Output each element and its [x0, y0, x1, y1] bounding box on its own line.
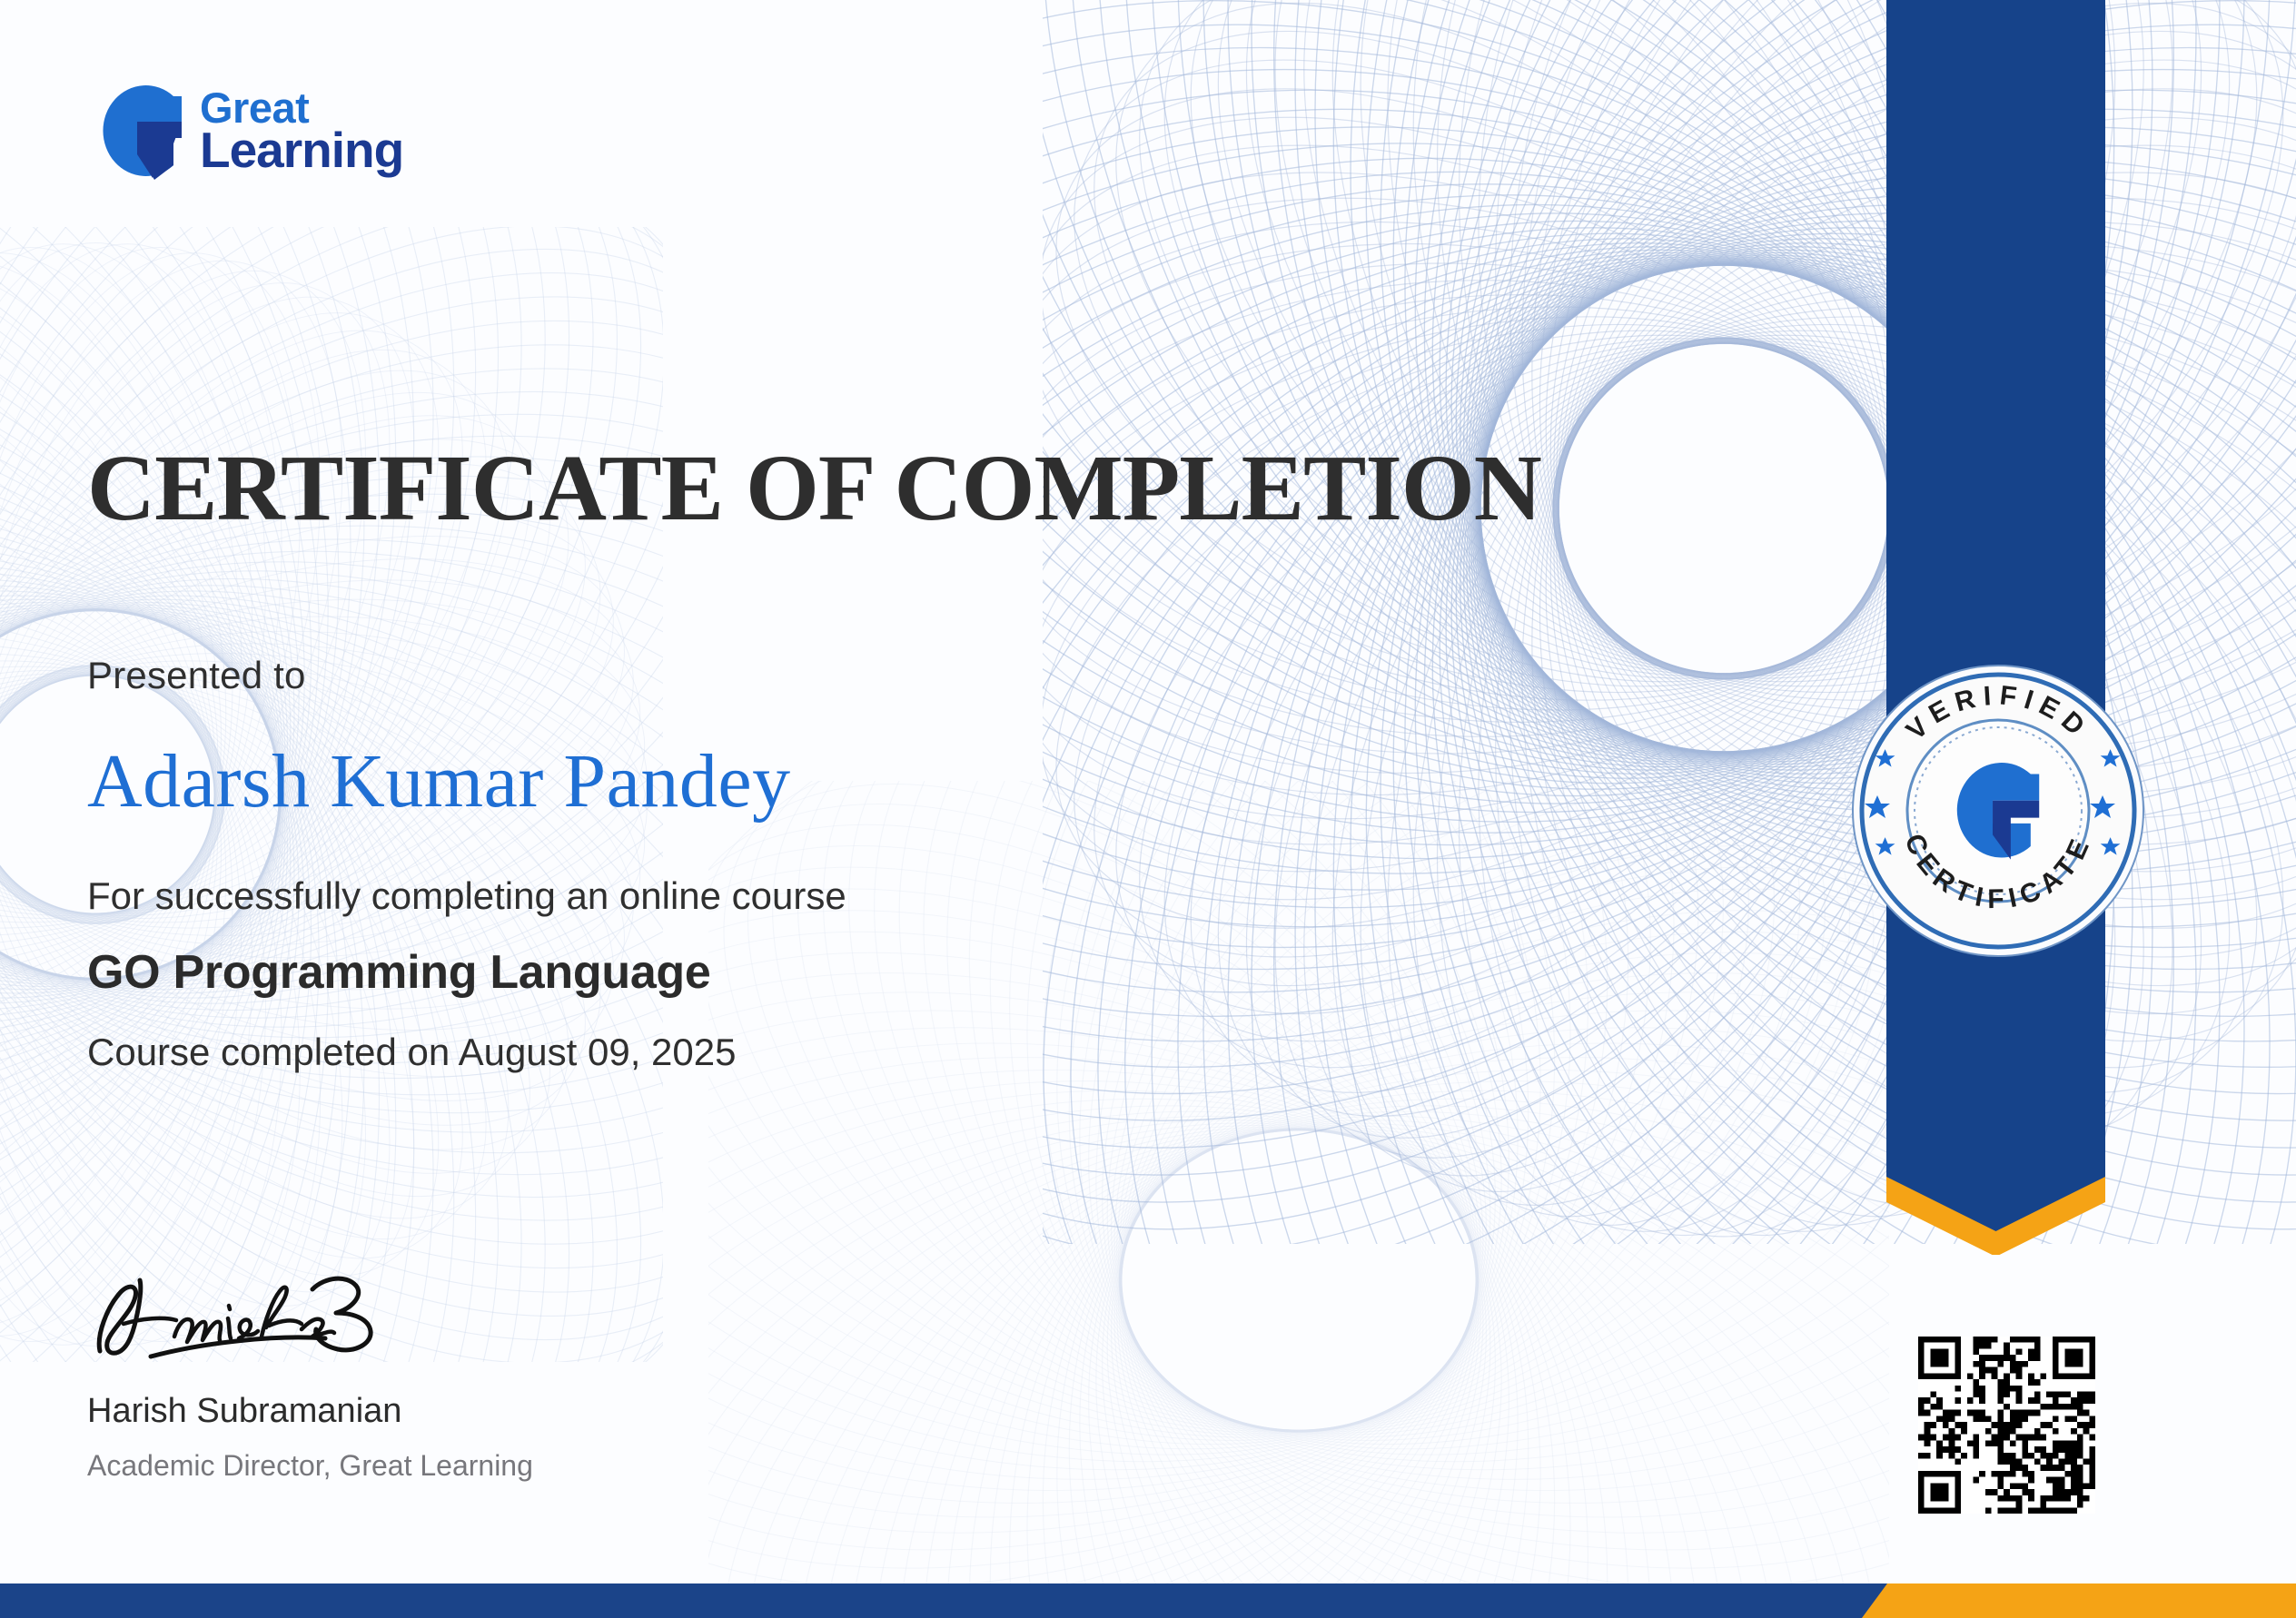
- great-learning-g-mark-icon: [87, 80, 185, 182]
- course-name: GO Programming Language: [87, 945, 1359, 1000]
- certificate-body: Presented to Adarsh Kumar Pandey For suc…: [87, 654, 1359, 1074]
- course-intro-text: For successfully completing an online co…: [87, 874, 1359, 918]
- signer-title: Academic Director, Great Learning: [87, 1449, 905, 1483]
- brand-logo: Great Learning: [87, 80, 403, 182]
- ribbon-chevron-tail: [1886, 1137, 2105, 1255]
- signer-name: Harish Subramanian: [87, 1392, 905, 1431]
- ribbon-body: [1886, 0, 2105, 1138]
- certificate-verification-qr-code[interactable]: [1918, 1337, 2095, 1514]
- bottom-accent-stripe: [0, 1583, 2296, 1618]
- brand-wordmark-line2: Learning: [200, 127, 403, 173]
- verified-certificate-seal: VERIFIED CERTIFICATE: [1848, 661, 2148, 961]
- recipient-name: Adarsh Kumar Pandey: [87, 737, 1359, 825]
- signature-block: Harish Subramanian Academic Director, Gr…: [87, 1271, 905, 1483]
- completion-date: Course completed on August 09, 2025: [87, 1031, 1359, 1074]
- certificate-canvas: Great Learning CERTIFICATE OF COMPLETION…: [0, 0, 2296, 1618]
- vertical-ribbon: [1886, 0, 2105, 1255]
- presented-to-label: Presented to: [87, 654, 1359, 697]
- handwritten-signature-icon: [87, 1271, 414, 1371]
- brand-wordmark: Great Learning: [200, 88, 403, 173]
- page-title: CERTIFICATE OF COMPLETION: [87, 434, 1541, 542]
